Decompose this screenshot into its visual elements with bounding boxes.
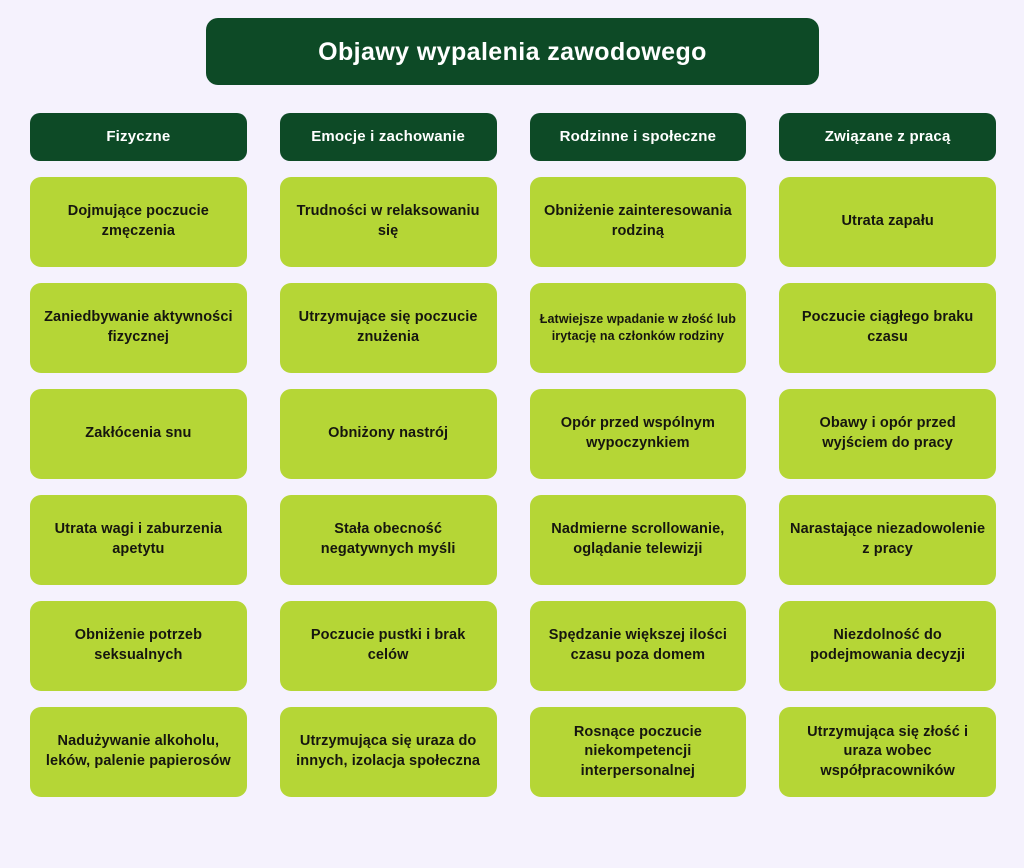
symptom-card: Łatwiejsze wpadanie w złość lub irytację… — [530, 283, 747, 373]
symptom-card: Niezdolność do podejmowania decyzji — [779, 601, 996, 691]
column-header-3: Rodzinne i społeczne — [530, 113, 747, 161]
title-banner: Objawy wypalenia zawodowego — [206, 18, 819, 85]
symptom-card: Stała obecność negatywnych myśli — [280, 495, 497, 585]
symptom-label: Obniżony nastrój — [328, 424, 448, 444]
column-header-4: Związane z pracą — [779, 113, 996, 161]
symptom-label: Niezdolność do podejmowania decyzji — [789, 626, 986, 665]
category-column-zwiazane-z-praca: Związane z pracą Utrata zapału Poczucie … — [779, 113, 996, 797]
symptom-label: Zaniedbywanie aktywności fizycznej — [40, 308, 237, 347]
category-column-rodzinne-i-spoleczne: Rodzinne i społeczne Obniżenie zainteres… — [530, 113, 747, 797]
symptom-card: Dojmujące poczucie zmęczenia — [30, 177, 247, 267]
symptom-card: Rosnące poczucie niekompetencji interper… — [530, 707, 747, 797]
symptom-label: Obniżenie potrzeb seksualnych — [40, 626, 237, 665]
symptom-label: Nadużywanie alkoholu, leków, palenie pap… — [40, 732, 237, 771]
symptom-card: Utrata zapału — [779, 177, 996, 267]
infographic-root: Objawy wypalenia zawodowego Fizyczne Doj… — [0, 0, 1024, 868]
symptom-card: Narastające niezadowolenie z pracy — [779, 495, 996, 585]
category-columns: Fizyczne Dojmujące poczucie zmęczenia Za… — [30, 113, 996, 797]
symptom-card: Utrzymująca się złość i uraza wobec wspó… — [779, 707, 996, 797]
symptom-label: Łatwiejsze wpadanie w złość lub irytację… — [540, 311, 737, 346]
symptom-card: Nadmierne scrollowanie, oglądanie telewi… — [530, 495, 747, 585]
column-header-2: Emocje i zachowanie — [280, 113, 497, 161]
symptom-card: Obniżenie zainteresowania rodziną — [530, 177, 747, 267]
symptom-label: Obawy i opór przed wyjściem do pracy — [789, 414, 986, 453]
symptom-label: Nadmierne scrollowanie, oglądanie telewi… — [540, 520, 737, 559]
symptom-card: Poczucie ciągłego braku czasu — [779, 283, 996, 373]
column-header-1: Fizyczne — [30, 113, 247, 161]
symptom-label: Utrzymująca się uraza do innych, izolacj… — [290, 732, 487, 771]
symptom-card: Spędzanie większej ilości czasu poza dom… — [530, 601, 747, 691]
symptom-label: Utrata zapału — [841, 212, 933, 232]
symptom-label: Poczucie ciągłego braku czasu — [789, 308, 986, 347]
symptom-card: Zakłócenia snu — [30, 389, 247, 479]
symptom-label: Poczucie pustki i brak celów — [290, 626, 487, 665]
symptom-label: Rosnące poczucie niekompetencji interper… — [540, 723, 737, 782]
card-list-1: Dojmujące poczucie zmęczenia Zaniedbywan… — [30, 177, 247, 797]
symptom-label: Dojmujące poczucie zmęczenia — [40, 202, 237, 241]
symptom-card: Utrzymująca się uraza do innych, izolacj… — [280, 707, 497, 797]
column-header-label: Emocje i zachowanie — [311, 128, 465, 145]
symptom-label: Stała obecność negatywnych myśli — [290, 520, 487, 559]
column-header-label: Związane z pracą — [825, 128, 951, 145]
symptom-card: Opór przed wspólnym wypoczynkiem — [530, 389, 747, 479]
symptom-label: Utrata wagi i zaburzenia apetytu — [40, 520, 237, 559]
symptom-label: Obniżenie zainteresowania rodziną — [540, 202, 737, 241]
page-title: Objawy wypalenia zawodowego — [318, 37, 707, 67]
category-column-fizyczne: Fizyczne Dojmujące poczucie zmęczenia Za… — [30, 113, 247, 797]
symptom-card: Obniżenie potrzeb seksualnych — [30, 601, 247, 691]
symptom-card: Trudności w relaksowaniu się — [280, 177, 497, 267]
symptom-label: Utrzymujące się poczucie znużenia — [290, 308, 487, 347]
symptom-label: Opór przed wspólnym wypoczynkiem — [540, 414, 737, 453]
symptom-card: Nadużywanie alkoholu, leków, palenie pap… — [30, 707, 247, 797]
column-header-label: Fizyczne — [106, 128, 170, 145]
card-list-2: Trudności w relaksowaniu się Utrzymujące… — [280, 177, 497, 797]
symptom-card: Poczucie pustki i brak celów — [280, 601, 497, 691]
symptom-label: Spędzanie większej ilości czasu poza dom… — [540, 626, 737, 665]
card-list-3: Obniżenie zainteresowania rodziną Łatwie… — [530, 177, 747, 797]
symptom-card: Obawy i opór przed wyjściem do pracy — [779, 389, 996, 479]
symptom-card: Utrzymujące się poczucie znużenia — [280, 283, 497, 373]
symptom-card: Obniżony nastrój — [280, 389, 497, 479]
symptom-label: Narastające niezadowolenie z pracy — [789, 520, 986, 559]
symptom-label: Trudności w relaksowaniu się — [290, 202, 487, 241]
symptom-label: Zakłócenia snu — [85, 424, 191, 444]
symptom-label: Utrzymująca się złość i uraza wobec wspó… — [789, 723, 986, 782]
category-column-emocje-i-zachowanie: Emocje i zachowanie Trudności w relaksow… — [280, 113, 497, 797]
symptom-card: Zaniedbywanie aktywności fizycznej — [30, 283, 247, 373]
symptom-card: Utrata wagi i zaburzenia apetytu — [30, 495, 247, 585]
column-header-label: Rodzinne i społeczne — [560, 128, 717, 145]
card-list-4: Utrata zapału Poczucie ciągłego braku cz… — [779, 177, 996, 797]
